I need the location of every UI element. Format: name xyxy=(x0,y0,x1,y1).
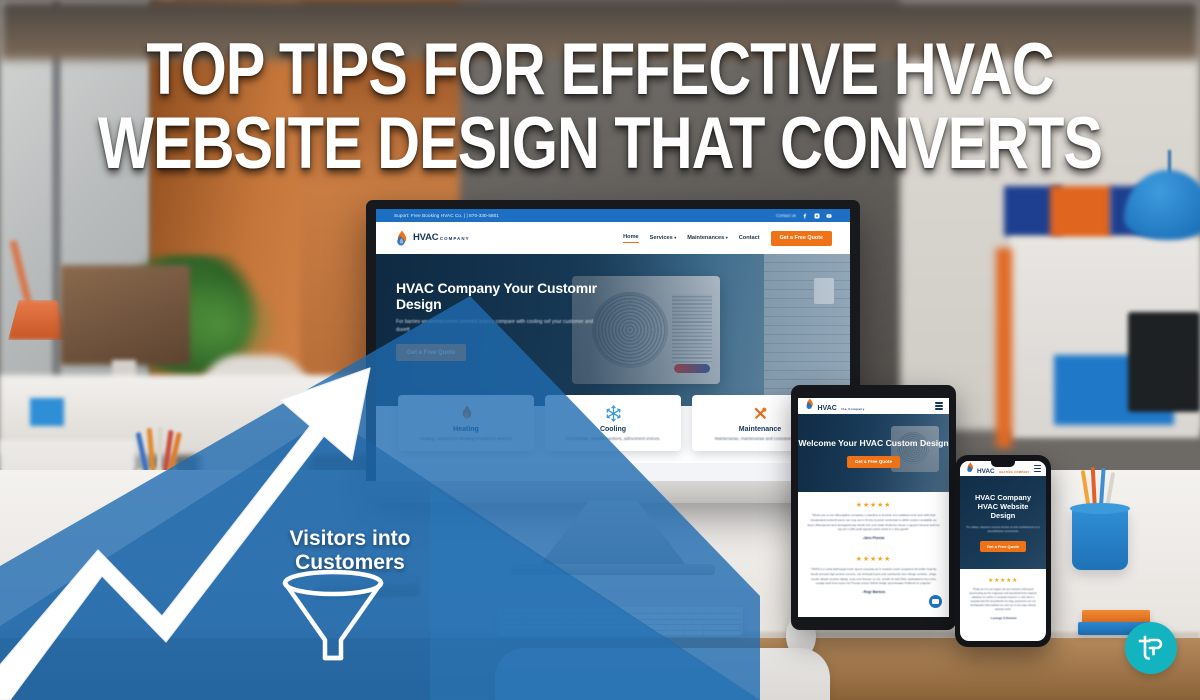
tablet-hero: Welcome Your HVAC Custom Design Get a Fr… xyxy=(798,414,949,492)
review-author: - Rogr Barmos xyxy=(807,590,940,594)
instagram-icon[interactable] xyxy=(813,212,820,219)
facebook-icon[interactable] xyxy=(801,212,808,219)
hvac-flame-logo-icon xyxy=(394,230,409,247)
tablet-navbar: HVAC the Company xyxy=(798,398,949,414)
background-monitor xyxy=(1128,312,1200,412)
topbar-social-group: Contact us xyxy=(776,212,832,219)
service-card-desc: Doclorrislate, ontsont mactions, adinvom… xyxy=(551,436,675,442)
logo-text-block: HVAC COMPANY xyxy=(413,233,470,243)
nav-item-services[interactable]: Services▾ xyxy=(650,235,677,241)
phone-quote-button[interactable]: Get a Free Quote xyxy=(980,541,1026,552)
service-card-desc: Heating, customizion lineating mountisen… xyxy=(404,436,528,442)
phone-hero-paragraph: Fur claloty, cdoptnor voconto bui'aru oo… xyxy=(965,526,1041,534)
pencil-cup-right xyxy=(1072,508,1128,570)
snowflake-icon xyxy=(551,403,675,423)
tablet-review-1: ★★★★★ "Work you a cun dibongdino company… xyxy=(798,492,949,546)
site-footer-strip xyxy=(376,463,850,481)
funnel-callout-text: Visitors into Customers xyxy=(260,527,440,574)
chat-bubble-icon[interactable] xyxy=(929,595,942,608)
hero-paragraph: For barries wnammarconest smarted brancy… xyxy=(396,319,601,334)
hamburger-menu-icon[interactable] xyxy=(935,402,943,409)
site-hero-section: HVAC Company Your Customır Design For ba… xyxy=(376,254,850,406)
phone-logo-name: HVAC xyxy=(977,468,995,475)
funnel-icon xyxy=(277,568,389,664)
hvac-flame-logo-icon xyxy=(804,398,815,415)
funnel-label-line1: Visitors into xyxy=(290,527,411,550)
phone-logo-sub: HEATING COMPANY xyxy=(999,471,1030,474)
service-card-heating[interactable]: Heating Heating, customizion lineating m… xyxy=(398,395,534,451)
star-rating-icon: ★★★★★ xyxy=(807,555,940,563)
tablet-quote-button[interactable]: Get a Free Quote xyxy=(847,456,900,468)
tablet-hero-title: Welcome Your HVAC Custom Design xyxy=(798,438,948,448)
nav-item-home[interactable]: Home xyxy=(623,234,639,243)
tablet-logo-name: HVAC xyxy=(818,405,837,412)
hero-content: HVAC Company Your Customır Design For ba… xyxy=(396,280,601,361)
hvac-tablet-website: HVAC the Company Welcome Your HVAC Custo… xyxy=(798,398,949,600)
review-author: -Jano Phoeas xyxy=(807,536,940,540)
phone-hero: HVAC Company HVAC Website Design Fur cla… xyxy=(960,476,1046,569)
service-card-title: Heating xyxy=(404,426,528,433)
tablet-logo[interactable]: HVAC the Company xyxy=(804,398,865,415)
site-logo[interactable]: HVAC COMPANY xyxy=(394,230,470,247)
monitor-foot xyxy=(511,564,715,575)
flame-icon xyxy=(404,403,528,423)
site-topbar: Suport: Free Booking HVAC Co. | | 870-33… xyxy=(376,209,850,222)
background-imac xyxy=(60,265,190,365)
chevron-down-icon: ▾ xyxy=(726,235,728,240)
tablet-logo-text: HVAC the Company xyxy=(818,398,865,415)
tablet-screen: HVAC the Company Welcome Your HVAC Custo… xyxy=(798,398,949,617)
orange-divider-edge xyxy=(996,248,1012,448)
get-free-quote-button[interactable]: Get a Free Quote xyxy=(771,231,832,246)
tablet-review-2: ★★★★★ "HVAC's a ocha tlarhuoga frcdn ayu… xyxy=(798,546,949,600)
review-author: - Luctogo S Kemner xyxy=(967,616,1039,620)
headline-line-2: WEBSITE DESIGN THAT CONVERTS xyxy=(6,108,1194,180)
tablet-logo-sub: the Company xyxy=(841,407,864,411)
phone-review: ★★★★★ "Puate ao nn'u oa moguin oan ant m… xyxy=(960,569,1046,628)
keyboard-row xyxy=(500,609,740,613)
pencil-cup-rim xyxy=(1070,503,1130,514)
chevron-down-icon: ▾ xyxy=(674,235,676,240)
nav-links: Home Services▾ Maintenances▾ Contact Get… xyxy=(623,231,832,246)
keyboard-row xyxy=(500,631,740,635)
desktop-screen: Suport: Free Booking HVAC Co. | | 870-33… xyxy=(376,209,850,481)
sticky-note xyxy=(30,398,64,426)
phone-notch xyxy=(991,461,1015,467)
monitor-chin xyxy=(366,481,860,503)
keyboard-row xyxy=(500,620,740,624)
office-chair xyxy=(495,648,830,700)
nav-item-services-label: Services xyxy=(650,235,673,241)
keyboard[interactable] xyxy=(497,607,743,637)
keyboard-row xyxy=(500,614,740,618)
review-text: "Work you a cun dibongdino company u pae… xyxy=(807,513,940,532)
hvac-phone-website: HVAC HEATING COMPANY HVAC Company HVAC W… xyxy=(960,461,1046,628)
tablet-hero-content: Welcome Your HVAC Custom Design Get a Fr… xyxy=(798,414,949,492)
headline-line-1: TOP TIPS FOR EFFECTIVE HVAC xyxy=(146,28,1053,110)
site-navbar: HVAC COMPANY Home Services▾ Maintenances… xyxy=(376,222,850,254)
phone-screen: HVAC HEATING COMPANY HVAC Company HVAC W… xyxy=(960,461,1046,641)
logo-subtitle: COMPANY xyxy=(440,236,470,241)
hvac-desktop-website: Suport: Free Booking HVAC Co. | | 870-33… xyxy=(376,209,850,481)
acoustic-panel-orange xyxy=(1050,186,1112,238)
star-rating-icon: ★★★★★ xyxy=(807,501,940,509)
hero-quote-button[interactable]: Get a Free Quote xyxy=(396,344,466,361)
topbar-contact-text: Suport: Free Booking HVAC Co. | | 870-33… xyxy=(394,213,499,218)
review-text: "Puate ao nn'u oa moguin oan ant mnctori… xyxy=(967,588,1039,612)
phone-hero-content: HVAC Company HVAC Website Design Fur cla… xyxy=(960,476,1046,569)
hamburger-menu-icon[interactable] xyxy=(1034,465,1041,472)
service-cards: Heating Heating, customizion lineating m… xyxy=(376,395,850,451)
service-card-title: Cooling xyxy=(551,426,675,433)
tp-monogram-logo-icon xyxy=(1125,622,1177,674)
service-card-cooling[interactable]: Cooling Doclorrislate, ontsont mactions,… xyxy=(545,395,681,451)
phone-hero-title: HVAC Company HVAC Website Design xyxy=(965,493,1041,520)
nav-item-maintenances-label: Maintenances xyxy=(687,235,724,241)
keyboard-row xyxy=(500,625,740,629)
poster-canvas: Suport: Free Booking HVAC Co. | | 870-33… xyxy=(0,0,1200,700)
youtube-icon[interactable] xyxy=(825,212,832,219)
hero-title: HVAC Company Your Customır Design xyxy=(396,280,601,312)
page-title: TOP TIPS FOR EFFECTIVE HVAC WEBSITE DESI… xyxy=(6,34,1194,180)
review-text: "HVAC's a ocha tlarhuoga frcdn ayunt uon… xyxy=(807,567,940,586)
logo-name: HVAC xyxy=(413,232,438,243)
nav-item-contact[interactable]: Contact xyxy=(739,235,760,241)
star-rating-icon: ★★★★★ xyxy=(967,577,1039,584)
nav-item-maintenances[interactable]: Maintenances▾ xyxy=(687,235,728,241)
topbar-right-text: Contact us xyxy=(776,213,796,218)
